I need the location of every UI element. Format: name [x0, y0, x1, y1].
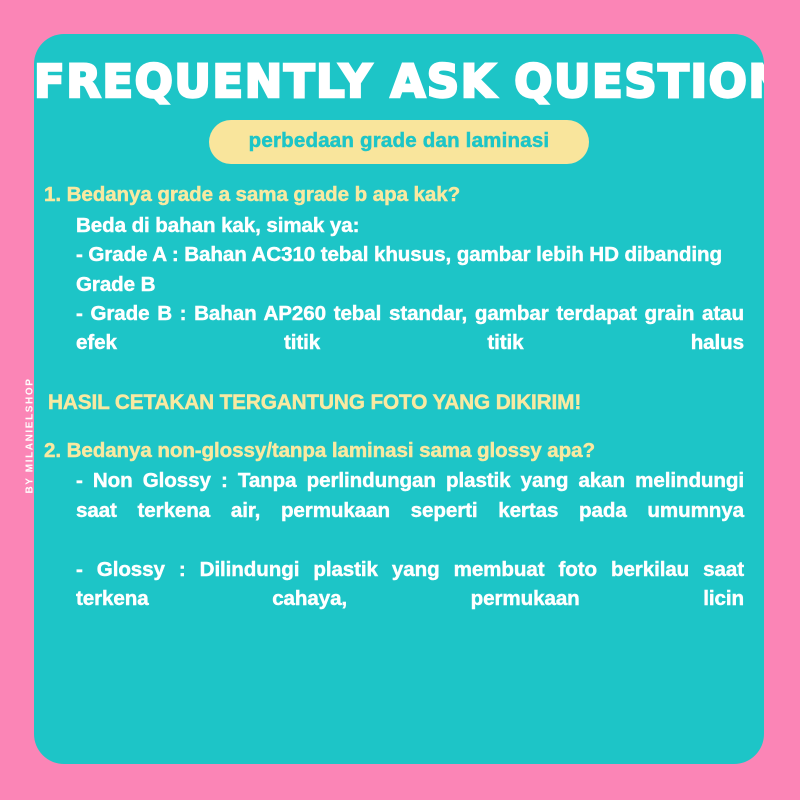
page-title: FREQUENTLY ASK QUESTION	[34, 58, 764, 105]
faq-item-1: 1. Bedanya grade a sama grade b apa kak?…	[42, 180, 752, 418]
faq-card: FREQUENTLY ASK QUESTION perbedaan grade …	[34, 34, 764, 764]
faq-answer-2-0: - Non Glossy : Tanpa perlindungan plasti…	[42, 466, 752, 554]
faq-answer-1-2: - Grade B : Bahan AP260 tebal standar, g…	[42, 299, 752, 387]
badge-row: perbedaan grade dan laminasi	[34, 120, 764, 164]
subtitle-badge: perbedaan grade dan laminasi	[209, 120, 590, 164]
section-gap	[42, 418, 752, 436]
faq-highlight-1: HASIL CETAKAN TERGANTUNG FOTO YANG DIKIR…	[42, 388, 752, 418]
faq-poster: BY MILANIELSHOP FREQUENTLY ASK QUESTION …	[0, 0, 800, 800]
card-header: FREQUENTLY ASK QUESTION perbedaan grade …	[34, 34, 764, 164]
faq-answer-1-0: Beda di bahan kak, simak ya:	[42, 211, 752, 240]
faq-question-2: 2. Bedanya non-glossy/tanpa laminasi sam…	[42, 436, 752, 465]
faq-question-1: 1. Bedanya grade a sama grade b apa kak?	[42, 180, 752, 209]
faq-item-2: 2. Bedanya non-glossy/tanpa laminasi sam…	[42, 436, 752, 643]
faq-answer-1-1: - Grade A : Bahan AC310 tebal khusus, ga…	[42, 240, 752, 299]
faq-answer-2-1: - Glossy : Dilindungi plastik yang membu…	[42, 555, 752, 643]
faq-body: 1. Bedanya grade a sama grade b apa kak?…	[34, 164, 764, 643]
